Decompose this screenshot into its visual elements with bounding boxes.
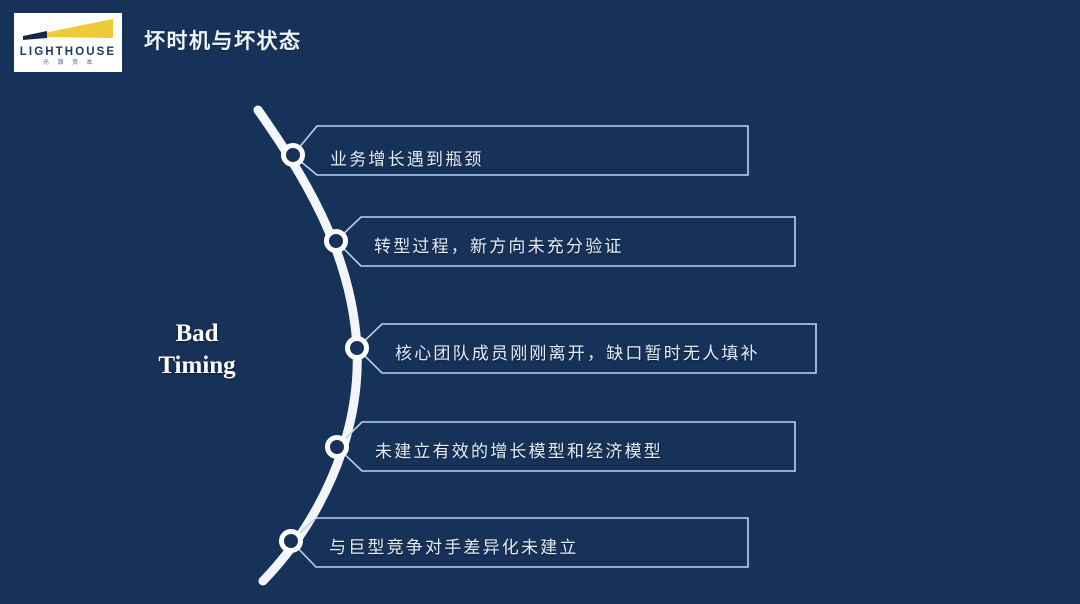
timeline-marker-2[interactable]	[327, 232, 346, 251]
timeline-marker-3[interactable]	[348, 339, 367, 358]
timeline-diagram	[0, 0, 1080, 604]
timeline-curve	[258, 110, 357, 581]
timeline-marker-4[interactable]	[328, 438, 347, 457]
callout-label-5: 与巨型竞争对手差异化未建立	[329, 533, 579, 558]
callout-label-4: 未建立有效的增长模型和经济模型	[375, 437, 663, 462]
callout-label-3: 核心团队成员刚刚离开，缺口暂时无人填补	[395, 339, 760, 364]
timeline-marker-5[interactable]	[282, 532, 301, 551]
callout-label-1: 业务增长遇到瓶颈	[330, 145, 484, 170]
slide-canvas: LIGHTHOUSE 光源资本 坏时机与坏状态 Bad Timing 业务增长遇…	[0, 0, 1080, 604]
timeline-marker-1[interactable]	[284, 146, 303, 165]
callout-label-2: 转型过程，新方向未充分验证	[374, 232, 624, 257]
